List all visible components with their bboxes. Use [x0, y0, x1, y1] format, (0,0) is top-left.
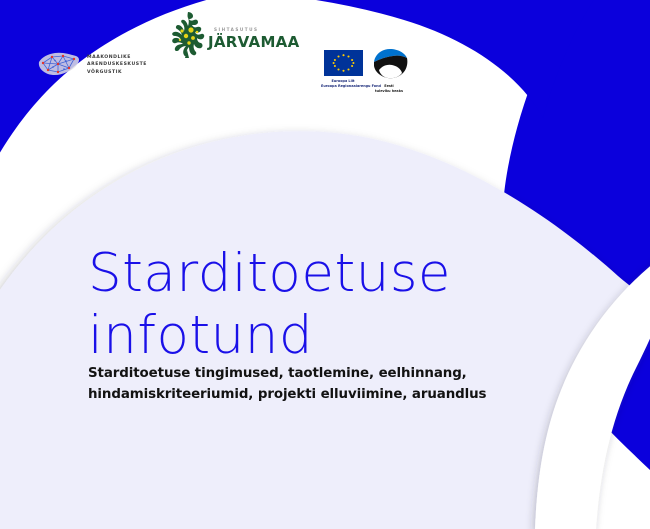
page-subtitle-line-1: Starditoetuse tingimused, taotlemine, ee… [88, 363, 558, 384]
estonia-logo-caption: Eesti tuleviku heaks [366, 84, 412, 93]
eu-logo-caption: Euroopa Liit Euroopa Regionaalarengu Fon… [321, 79, 365, 88]
eu-caption-line-2: Euroopa Regionaalarengu Fond [321, 84, 365, 89]
mak-logo-line-2: ARENDUSKESKUSTE [87, 61, 147, 69]
page-title: Starditoetuse infotund [88, 243, 558, 367]
page-subtitle-line-2: hindamiskriteeriumid, projekti elluviimi… [88, 384, 558, 405]
logo-strip: MAAKONDLIKE ARENDUSKESKUSTE VÕRGUSTIK [0, 0, 650, 105]
mak-logo-line-3: VÕRGUSTIK [87, 69, 147, 77]
eu-flag-icon [324, 50, 363, 76]
page-subtitle: Starditoetuse tingimused, taotlemine, ee… [88, 363, 558, 405]
estonia-flag-swoosh-icon [369, 48, 409, 82]
eesti-tuleviku-heaks-logo: Eesti tuleviku heaks [366, 48, 412, 93]
maakondlike-arenduskeskuste-vorgustik-logo: MAAKONDLIKE ARENDUSKESKUSTE VÕRGUSTIK [36, 48, 147, 82]
estonia-network-map-icon [36, 48, 82, 82]
jarvamaa-logo-name: JÄRVAMAA [208, 33, 299, 51]
page-title-line-1: Starditoetuse [88, 243, 558, 305]
presentation-slide: MAAKONDLIKE ARENDUSKESKUSTE VÕRGUSTIK [0, 0, 650, 529]
jarvamaa-logo-subtitle: SIHTASUTUS [214, 27, 259, 32]
sihtasutus-jarvamaa-logo: SIHTASUTUS JÄRVAMAA [168, 10, 308, 58]
mak-logo-text: MAAKONDLIKE ARENDUSKESKUSTE VÕRGUSTIK [87, 54, 147, 77]
mak-logo-line-1: MAAKONDLIKE [87, 54, 147, 62]
page-title-line-2: infotund [88, 305, 558, 367]
euroopa-liit-logo: Euroopa Liit Euroopa Regionaalarengu Fon… [321, 50, 365, 88]
jarvamaa-tree-icon [168, 10, 212, 58]
estonia-caption-line-2: tuleviku heaks [366, 89, 412, 94]
